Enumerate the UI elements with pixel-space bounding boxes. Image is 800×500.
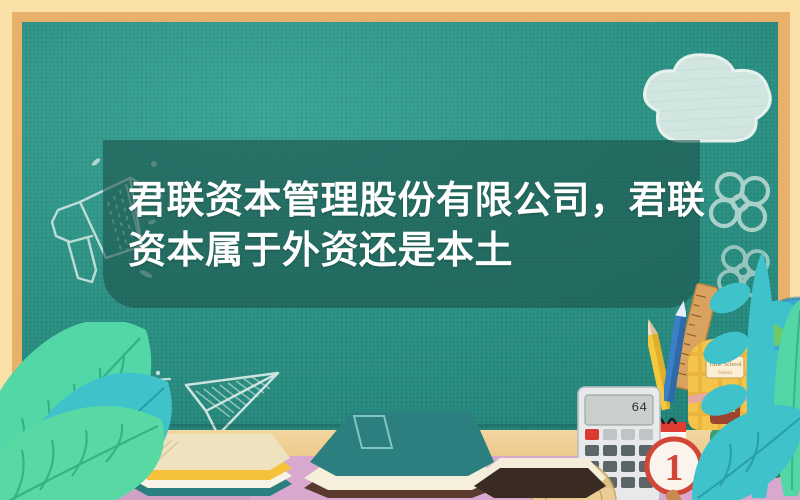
svg-text:School: School (718, 371, 733, 376)
book-stack (120, 418, 300, 500)
backpack-label: Time School (708, 361, 741, 368)
poster-canvas: 君联资本管理股份有限公司，君联资本属于外资还是本土 (0, 0, 800, 500)
page-title: 君联资本管理股份有限公司，君联资本属于外资还是本土 (128, 176, 728, 276)
magnifier-icon: 1 (634, 432, 714, 500)
book-stack (470, 418, 610, 500)
calculator-display: 64 (631, 400, 647, 415)
magnifier-digit: 1 (665, 447, 684, 489)
